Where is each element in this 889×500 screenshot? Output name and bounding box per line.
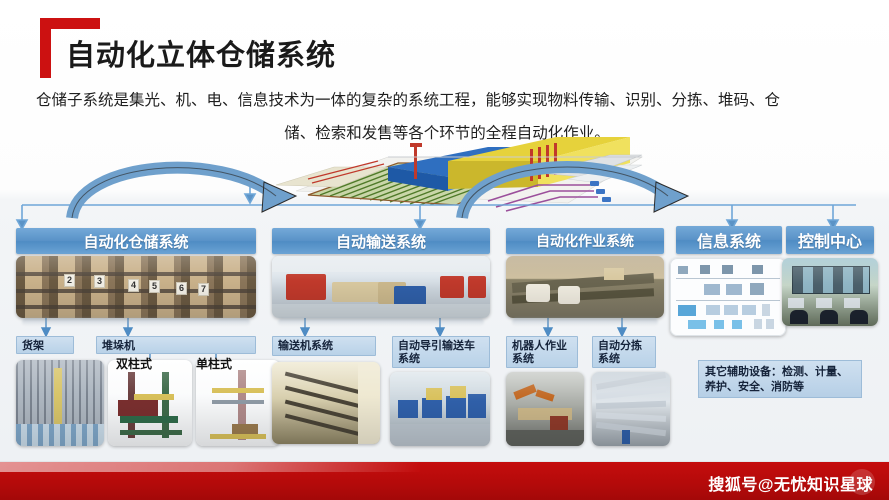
cross-belt-sorter-photo: [592, 372, 670, 446]
robot-arm-cell-photo: [506, 372, 584, 446]
sub-label-输送机系统[interactable]: 输送机系统: [272, 336, 376, 356]
3d-warehouse-illustration: [238, 133, 658, 225]
information-network-diagram: [670, 258, 786, 336]
agv-warehouse-floor-photo: [272, 256, 490, 318]
category-header-2[interactable]: 自动化作业系统: [506, 228, 664, 254]
intro-line-1: 仓储子系统是集光、机、电、信息技术为一体的复杂的系统工程，能够实现物料传输、识别…: [36, 92, 780, 109]
agv-fleet-photo: [390, 372, 490, 446]
roller-conveyor-photo: [272, 362, 380, 444]
variant-label-单柱式: 单柱式: [196, 358, 242, 374]
aux-equipment-note-text: 其它辅助设备：检测、计量、养护、安全、消防等: [705, 366, 848, 393]
sub-label-text: 自动导引输送车系统: [398, 340, 475, 365]
sub-label-text: 货架: [22, 340, 44, 352]
sub-label-text: 机器人作业系统: [512, 340, 567, 365]
photo-reflection: [22, 318, 250, 326]
page-title: 自动化立体仓储系统: [66, 32, 336, 74]
category-header-0[interactable]: 自动化仓储系统: [16, 228, 256, 254]
category-header-3[interactable]: 信息系统: [676, 226, 782, 254]
control-room-photo: [782, 258, 878, 326]
variant-label-text: 双柱式: [116, 357, 152, 371]
pallet-rack-photo: [16, 360, 104, 446]
category-header-4[interactable]: 控制中心: [786, 226, 874, 254]
sub-label-堆垛机[interactable]: 堆垛机: [96, 336, 256, 354]
photo-reflection: [278, 318, 484, 326]
footer-wedge-decoration: [0, 462, 420, 472]
sub-label-自动分拣系统[interactable]: 自动分拣系统: [592, 336, 656, 368]
warehouse-racking-photo: 2 3 4 5 6 7: [16, 256, 256, 318]
sub-label-text: 自动分拣系统: [598, 340, 642, 365]
variant-label-双柱式: 双柱式: [116, 358, 162, 374]
sub-label-机器人作业系统[interactable]: 机器人作业系统: [506, 336, 578, 368]
sub-label-自动导引输送车系统[interactable]: 自动导引输送车系统: [392, 336, 490, 368]
footer-bar: 搜狐号@无忧知识星球: [0, 462, 889, 500]
category-header-label-1: 自动输送系统: [336, 231, 426, 252]
sub-label-货架[interactable]: 货架: [16, 336, 74, 354]
aux-equipment-note[interactable]: 其它辅助设备：检测、计量、养护、安全、消防等: [698, 360, 862, 398]
sub-label-text: 堆垛机: [102, 340, 135, 352]
slide-canvas: 自动化立体仓储系统 仓储子系统是集光、机、电、信息技术为一体的复杂的系统工程，能…: [0, 0, 889, 500]
sub-label-text: 输送机系统: [278, 340, 333, 352]
footer-brand: 搜狐号@无忧知识星球: [708, 471, 873, 495]
category-header-label-0: 自动化仓储系统: [83, 231, 188, 252]
category-header-label-3: 信息系统: [697, 228, 761, 252]
photo-reflection: [512, 318, 658, 326]
automated-operation-line-photo: [506, 256, 664, 318]
variant-label-text: 单柱式: [196, 357, 232, 371]
category-header-label-2: 自动化作业系统: [536, 231, 634, 251]
category-header-1[interactable]: 自动输送系统: [272, 228, 490, 254]
category-header-label-4: 控制中心: [798, 228, 862, 252]
